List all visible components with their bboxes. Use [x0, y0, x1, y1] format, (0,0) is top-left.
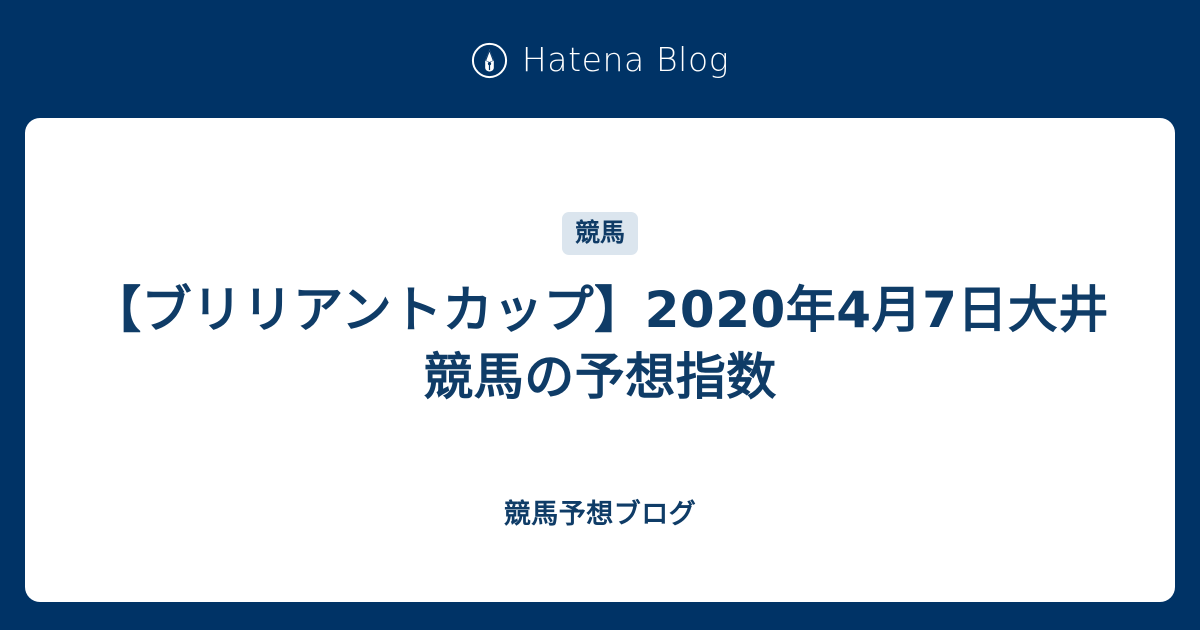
ogp-card-root: Hatena Blog 競馬 【ブリリアントカップ】2020年4月7日大井競馬の… — [0, 0, 1200, 630]
hatena-blog-brand-name: Hatena Blog — [522, 43, 729, 76]
hatena-pen-nib-icon — [471, 40, 508, 79]
category-badge[interactable]: 競馬 — [562, 212, 638, 255]
blog-title: 競馬予想ブログ — [25, 501, 1175, 528]
entry-card: 競馬 【ブリリアントカップ】2020年4月7日大井競馬の予想指数 競馬予想ブログ — [25, 118, 1175, 602]
hatena-blog-brand-header: Hatena Blog — [0, 0, 1200, 118]
entry-title: 【ブリリアントカップ】2020年4月7日大井競馬の予想指数 — [90, 277, 1110, 411]
category-row: 競馬 — [25, 212, 1175, 255]
